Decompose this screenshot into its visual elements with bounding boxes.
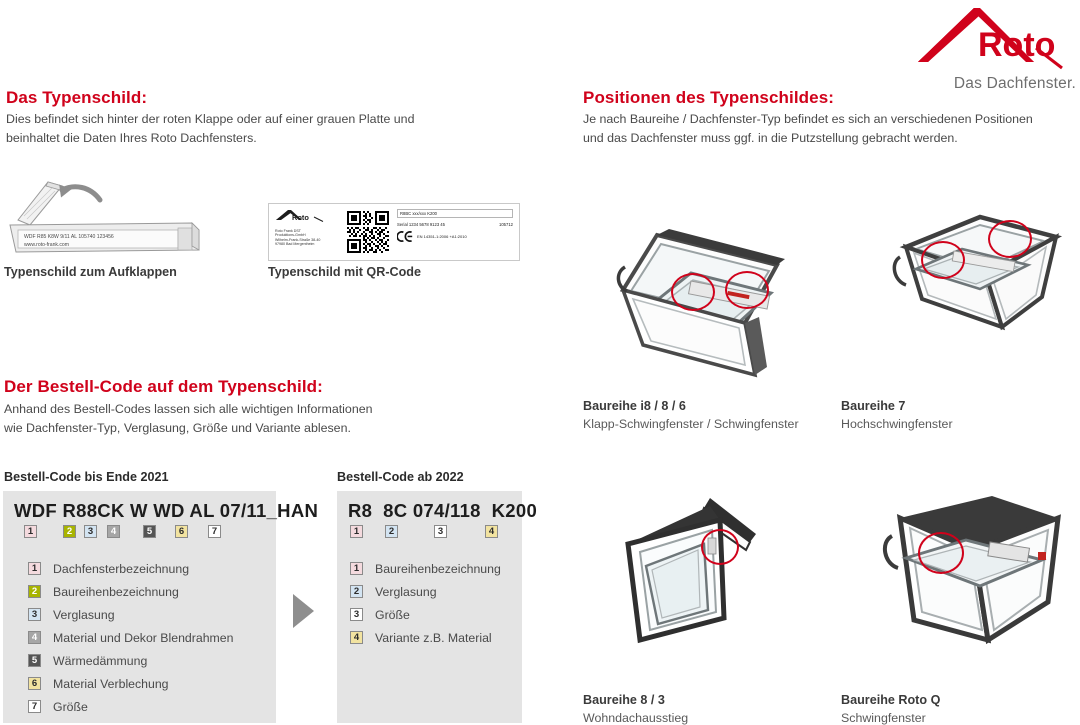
- roof-window-drawing-icon: [862, 490, 1072, 670]
- plate-code-field: R8BC xxx/xxx K200: [397, 209, 513, 218]
- roto-roof-logo-icon: Roto: [916, 6, 1066, 70]
- legend-badge-3: 3: [350, 608, 363, 621]
- window-photo-baureihe-7: [870, 195, 1070, 380]
- positionen-line-1: Je nach Baureihe / Dachfenster-Typ befin…: [583, 110, 1073, 129]
- legend-row: 5Wärmedämmung: [28, 649, 276, 672]
- figure-qr-caption: Typenschild mit QR-Code: [268, 265, 421, 279]
- legend-badge-3: 3: [28, 608, 41, 621]
- transition-arrow-icon: [293, 594, 314, 628]
- ce-mark-icon: [397, 231, 413, 242]
- qr-code-icon: [347, 211, 389, 253]
- plate-norm-text: EN 14351-1:2006 +A1:2010: [417, 234, 467, 239]
- section-heading-bestellcode: Der Bestell-Code auf dem Typenschild:: [4, 377, 323, 397]
- section-positionen-paragraph: Je nach Baureihe / Dachfenster-Typ befin…: [583, 110, 1073, 148]
- code-badge-2: 2: [385, 525, 398, 538]
- window-caption-title-4: Baureihe Roto Q: [841, 693, 940, 707]
- code-badge-5: 5: [143, 525, 156, 538]
- code-badge-1: 1: [350, 525, 363, 538]
- legend-badge-1: 1: [28, 562, 41, 575]
- section-bestellcode-paragraph: Anhand des Bestell-Codes lassen sich all…: [4, 400, 524, 438]
- legend-row: 3Größe: [350, 603, 522, 626]
- section-typenschild-paragraph: Dies befindet sich hinter der roten Klap…: [6, 110, 526, 148]
- legend-row: 4Variante z.B. Material: [350, 626, 522, 649]
- code-badge-4: 4: [485, 525, 498, 538]
- panel-new-code-badges: 1 2 3 4: [337, 525, 522, 543]
- window-caption-title-3: Baureihe 8 / 3: [583, 693, 665, 707]
- legend-badge-5: 5: [28, 654, 41, 667]
- code-badge-3: 3: [434, 525, 447, 538]
- panel-new-title: Bestell-Code ab 2022: [337, 470, 464, 484]
- code-badge-1: 1: [24, 525, 37, 538]
- window-caption-subtitle-1: Klapp-Schwingfenster / Schwingfenster: [583, 417, 799, 431]
- legend-row: 7Größe: [28, 695, 276, 718]
- legend-row: 1Dachfensterbezeichnung: [28, 557, 276, 580]
- panel-new-code: R8 8C 074/118 K200: [348, 500, 522, 522]
- legend-badge-2: 2: [28, 585, 41, 598]
- roof-window-drawing-icon: [870, 195, 1070, 380]
- legend-label: Verglasung: [53, 608, 115, 622]
- window-caption-subtitle-2: Hochschwingfenster: [841, 417, 953, 431]
- panel-new-legend-list: 1Baureihenbezeichnung2Verglasung3Größe4V…: [350, 557, 522, 649]
- legend-label: Dachfensterbezeichnung: [53, 562, 189, 576]
- bestellcode-line-1: Anhand des Bestell-Codes lassen sich all…: [4, 400, 524, 419]
- legend-row: 6Material Verblechung: [28, 672, 276, 695]
- legend-label: Baureihenbezeichnung: [375, 562, 501, 576]
- brand-tagline: Das Dachfenster.: [916, 75, 1076, 93]
- code-badge-6: 6: [175, 525, 188, 538]
- window-caption-title-1: Baureihe i8 / 8 / 6: [583, 399, 686, 413]
- position-marker-ring-1: [921, 241, 965, 279]
- legend-label: Wärmedämmung: [53, 654, 147, 668]
- figure-flip-label-caption: Typenschild zum Aufklappen: [4, 265, 177, 279]
- logo-wordmark: Roto: [978, 26, 1055, 64]
- code-badge-3: 3: [84, 525, 97, 538]
- panel-bestellcode-new: R8 8C 074/118 K200 1 2 3 4 1Baureihenbez…: [337, 491, 522, 723]
- figure-qr-typeplate: Roto Roto Frank DST Produktions-GmbH Wil…: [268, 203, 520, 261]
- roof-window-drawing-icon: [600, 490, 790, 670]
- legend-label: Variante z.B. Material: [375, 631, 492, 645]
- flip-label-drawing-icon: WDF R85 K8W 9/11 AL 105740 123456 www.ro…: [4, 178, 214, 258]
- code-badge-2: 2: [63, 525, 76, 538]
- window-photo-i8-8-6: [595, 195, 810, 380]
- positionen-line-2: und das Dachfenster muss ggf. in die Put…: [583, 129, 1073, 148]
- plate-company-line-4: 97980 Bad Mergentheim: [275, 242, 341, 246]
- panel-old-title: Bestell-Code bis Ende 2021: [4, 470, 168, 484]
- legend-row: 2Verglasung: [350, 580, 522, 603]
- plate-roto-logo-icon: Roto: [275, 209, 335, 222]
- panel-old-legend-list: 1Dachfensterbezeichnung2Baureihenbezeich…: [28, 557, 276, 718]
- figure-flip-label-illustration: WDF R85 K8W 9/11 AL 105740 123456 www.ro…: [4, 178, 214, 258]
- figure-label-line-1: WDF R85 K8W 9/11 AL 105740 123456: [24, 234, 114, 240]
- panel-old-code: WDF R88CK W WD AL 07/11_HAN: [14, 500, 276, 522]
- legend-label: Baureihenbezeichnung: [53, 585, 179, 599]
- position-marker-ring-2: [988, 220, 1032, 258]
- plate-logo-text: Roto: [292, 213, 309, 222]
- legend-row: 3Verglasung: [28, 603, 276, 626]
- window-photo-baureihe-8-3: [600, 490, 790, 670]
- legend-label: Größe: [375, 608, 410, 622]
- plate-data-block: R8BC xxx/xxx K200 Serial 1234 5678 9123 …: [397, 209, 513, 242]
- bestellcode-line-2: wie Dachfenster-Typ, Verglasung, Größe u…: [4, 419, 524, 438]
- position-marker-ring-1: [918, 532, 964, 574]
- legend-badge-2: 2: [350, 585, 363, 598]
- legend-label: Material Verblechung: [53, 677, 169, 691]
- plate-brand-block: Roto Roto Frank DST Produktions-GmbH Wil…: [275, 209, 341, 247]
- section-heading-positionen: Positionen des Typenschildes:: [583, 88, 834, 108]
- position-marker-ring-1: [701, 529, 739, 565]
- position-marker-ring-1: [671, 273, 715, 311]
- figure-label-line-2: www.roto-frank.com: [24, 242, 69, 248]
- code-badge-7: 7: [208, 525, 221, 538]
- legend-label: Material und Dekor Blendrahmen: [53, 631, 233, 645]
- section-heading-typenschild: Das Typenschild:: [6, 88, 147, 108]
- paragraph-line-1: Dies befindet sich hinter der roten Klap…: [6, 110, 526, 129]
- plate-serial-label: Serial 1234 5678 9123 45: [397, 222, 445, 227]
- window-photo-roto-q: [862, 490, 1072, 670]
- position-marker-ring-2: [725, 271, 769, 309]
- legend-row: 1Baureihenbezeichnung: [350, 557, 522, 580]
- legend-row: 2Baureihenbezeichnung: [28, 580, 276, 603]
- panel-old-code-badges: 1 2 3 4 5 6 7: [3, 525, 276, 543]
- legend-label: Größe: [53, 700, 88, 714]
- legend-badge-6: 6: [28, 677, 41, 690]
- paragraph-line-2: beinhaltet die Daten Ihres Roto Dachfens…: [6, 129, 526, 148]
- plate-serial-number: 105712: [499, 222, 513, 227]
- brand-logo: Roto Das Dachfenster.: [916, 6, 1076, 93]
- legend-badge-1: 1: [350, 562, 363, 575]
- legend-row: 4Material und Dekor Blendrahmen: [28, 626, 276, 649]
- legend-badge-4: 4: [350, 631, 363, 644]
- panel-bestellcode-old: WDF R88CK W WD AL 07/11_HAN 1 2 3 4 5 6 …: [3, 491, 276, 723]
- legend-label: Verglasung: [375, 585, 437, 599]
- code-badge-4: 4: [107, 525, 120, 538]
- window-caption-title-2: Baureihe 7: [841, 399, 905, 413]
- legend-badge-4: 4: [28, 631, 41, 644]
- legend-badge-7: 7: [28, 700, 41, 713]
